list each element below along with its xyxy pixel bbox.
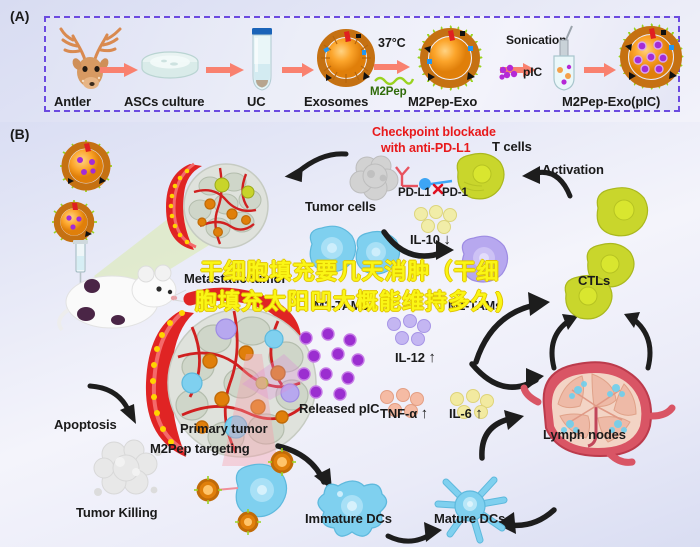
label-il10: IL-10 ↓ <box>410 232 451 248</box>
label-apoptosis: Apoptosis <box>54 418 117 432</box>
il10-name: IL-10 <box>410 232 440 247</box>
label-pd1: PD-1 <box>442 187 468 199</box>
panel-b-tag: (B) <box>10 126 29 142</box>
label-metastatic-tumor: Metastatic tumor <box>184 272 286 286</box>
process-arrow-6 <box>584 62 618 78</box>
label-il12: IL-12 ↑ <box>395 350 436 366</box>
panel-a: (A) <box>0 0 700 122</box>
scientific-figure: (A) <box>0 0 700 547</box>
step-label-m2pep-exo-pic: M2Pep-Exo(pIC) <box>562 95 660 109</box>
peptide-exosome-icon <box>418 26 482 90</box>
loaded-exosome-icon <box>618 24 684 90</box>
label-il6: IL-6 ↑ <box>449 406 483 422</box>
label-immature-dcs: Immature DCs <box>305 512 392 526</box>
sonicator-tube-icon <box>548 26 582 92</box>
label-mature-dcs: Mature DCs <box>434 512 505 526</box>
il12-cytokine-dots <box>384 314 440 354</box>
label-m1-tams: M1-TAMs <box>448 300 502 313</box>
step-label-antler: Antler <box>54 95 91 109</box>
petri-dish-icon <box>140 48 200 82</box>
m2pep-annotation: M2Pep <box>370 86 407 98</box>
process-arrow-2 <box>206 62 246 78</box>
m2pep-targeting-icon <box>186 452 316 538</box>
label-ctls: CTLs <box>578 274 610 288</box>
metastatic-tumor-icon <box>150 152 280 262</box>
deer-antler-icon <box>55 26 133 88</box>
process-arrow-3 <box>282 62 316 78</box>
m1-tam-cell-icon <box>452 232 512 288</box>
process-arrow-4 <box>374 59 412 75</box>
il6-arrow-icon: ↑ <box>475 405 482 422</box>
il12-arrow-icon: ↑ <box>428 349 435 366</box>
il12-name: IL-12 <box>395 350 425 365</box>
label-m2-tams: M2-TAMs <box>314 300 368 313</box>
tnfa-name: TNF-α <box>380 406 417 421</box>
label-activation: Activation <box>542 163 604 177</box>
lymph-node-icon <box>524 350 674 468</box>
step-label-exosomes: Exosomes <box>304 95 368 109</box>
step-label-uc: UC <box>247 95 266 109</box>
label-tumor-killing: Tumor Killing <box>76 506 158 520</box>
pic-annotation: pIC <box>523 66 542 79</box>
label-lymph-nodes: Lymph nodes <box>543 428 626 442</box>
centrifuge-tube-icon <box>248 28 276 92</box>
process-arrow-1 <box>100 62 140 78</box>
t-cell-icon-2 <box>588 184 654 240</box>
free-exosome-icon-1 <box>60 140 112 192</box>
panel-a-tag: (A) <box>10 8 29 24</box>
label-primary-tumor: Primary tumor <box>180 422 268 436</box>
label-pdl1: PD-L1 <box>398 187 431 199</box>
label-checkpoint-blockade-line1: Checkpoint blockade <box>372 126 496 139</box>
exosome-icon <box>318 30 374 86</box>
label-tnfa: TNF-α ↑ <box>380 406 428 422</box>
temperature-annotation: 37°C <box>378 37 406 50</box>
step-label-ascs-culture: ASCs culture <box>124 95 204 109</box>
panel-b: (B) <box>0 122 700 547</box>
label-t-cells: T cells <box>492 140 532 154</box>
mature-dc-icon <box>430 470 516 547</box>
peptide-squiggle-icon <box>374 74 414 86</box>
immature-dc-icon <box>310 474 392 546</box>
label-tumor-cells: Tumor cells <box>305 200 376 214</box>
label-released-pic: Released pIC <box>299 402 379 416</box>
il6-name: IL-6 <box>449 406 472 421</box>
step-label-m2pep-exo: M2Pep-Exo <box>408 95 477 109</box>
tnfa-arrow-icon: ↑ <box>421 405 428 422</box>
released-pic-dots <box>296 328 366 402</box>
il10-arrow-icon: ↓ <box>443 231 450 248</box>
label-checkpoint-blockade-line2: with anti-PD-L1 <box>381 142 470 155</box>
label-m2pep-targeting: M2Pep targeting <box>150 442 250 456</box>
arrow-tumorcells-to-metastatic <box>272 150 350 192</box>
